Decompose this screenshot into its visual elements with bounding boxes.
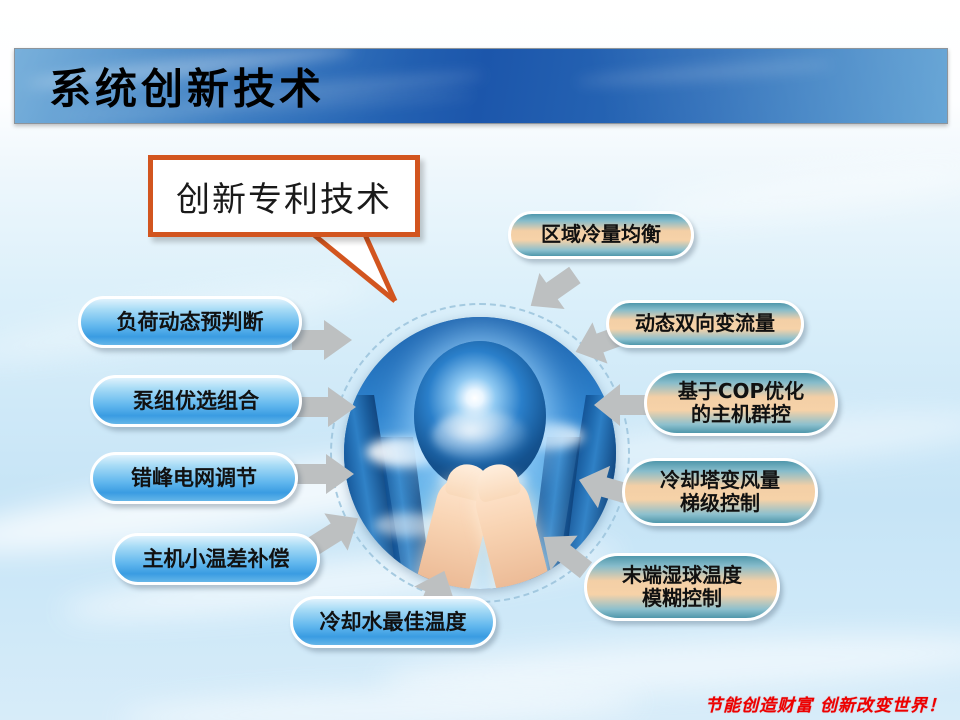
- cloud-streak: [119, 681, 640, 720]
- pill-label-group: 冷却塔变风量 梯级控制: [660, 469, 780, 515]
- pill-peak-shifting-grid-regulation[interactable]: 错峰电网调节: [90, 452, 298, 504]
- pill-label-line2: 的主机群控: [678, 403, 804, 426]
- slide-canvas: 系统创新技术 创新专利技术: [0, 0, 960, 720]
- pill-zonal-cooling-balance[interactable]: 区域冷量均衡: [508, 211, 694, 259]
- pill-label-line1: 动态双向变流量: [635, 312, 775, 335]
- pill-label-group: 动态双向变流量: [635, 312, 775, 335]
- pill-label: 主机小温差补偿: [143, 547, 290, 571]
- callout-pointer-tail: [300, 228, 420, 306]
- page-title: 系统创新技术: [49, 56, 325, 117]
- pill-chiller-small-temp-diff-compensation[interactable]: 主机小温差补偿: [112, 533, 320, 585]
- pill-label: 冷却水最佳温度: [320, 610, 467, 634]
- pill-label-line1: 基于COP优化: [678, 380, 804, 403]
- callout-box: 创新专利技术: [148, 155, 420, 237]
- pill-label: 错峰电网调节: [131, 466, 257, 490]
- pill-cooling-tower-variable-air-step-control[interactable]: 冷却塔变风量 梯级控制: [622, 458, 818, 526]
- pill-terminal-wet-bulb-fuzzy-control[interactable]: 末端湿球温度 模糊控制: [584, 553, 780, 621]
- pill-label-line1: 区域冷量均衡: [541, 223, 661, 246]
- pill-cop-based-chiller-group-control[interactable]: 基于COP优化 的主机群控: [644, 370, 838, 436]
- pill-label-line2: 模糊控制: [622, 587, 742, 610]
- pill-pump-group-optimal-combination[interactable]: 泵组优选组合: [90, 375, 302, 427]
- arrow-left-icon: [592, 382, 648, 428]
- pill-label-line1: 冷却塔变风量: [660, 469, 780, 492]
- title-banner: 系统创新技术: [14, 48, 948, 124]
- pill-label: 泵组优选组合: [133, 389, 259, 413]
- pill-label-group: 末端湿球温度 模糊控制: [622, 564, 742, 610]
- pill-load-dynamic-prediction[interactable]: 负荷动态预判断: [78, 296, 302, 348]
- footer-slogan: 节能创造财富 创新改变世界！: [705, 691, 946, 716]
- pill-label-group: 基于COP优化 的主机群控: [678, 380, 804, 426]
- pill-label-line2: 梯级控制: [660, 492, 780, 515]
- callout-label: 创新专利技术: [176, 172, 392, 221]
- arrow-right-icon: [294, 452, 356, 496]
- arrow-right-icon: [296, 385, 358, 429]
- pill-optimal-cooling-water-temperature[interactable]: 冷却水最佳温度: [290, 596, 496, 648]
- pill-dynamic-bidirectional-variable-flow[interactable]: 动态双向变流量: [606, 300, 804, 348]
- pill-label-group: 区域冷量均衡: [541, 223, 661, 246]
- pill-label-line1: 末端湿球温度: [622, 564, 742, 587]
- pill-label: 负荷动态预判断: [117, 310, 264, 334]
- banner-cloud-streak: [575, 58, 835, 88]
